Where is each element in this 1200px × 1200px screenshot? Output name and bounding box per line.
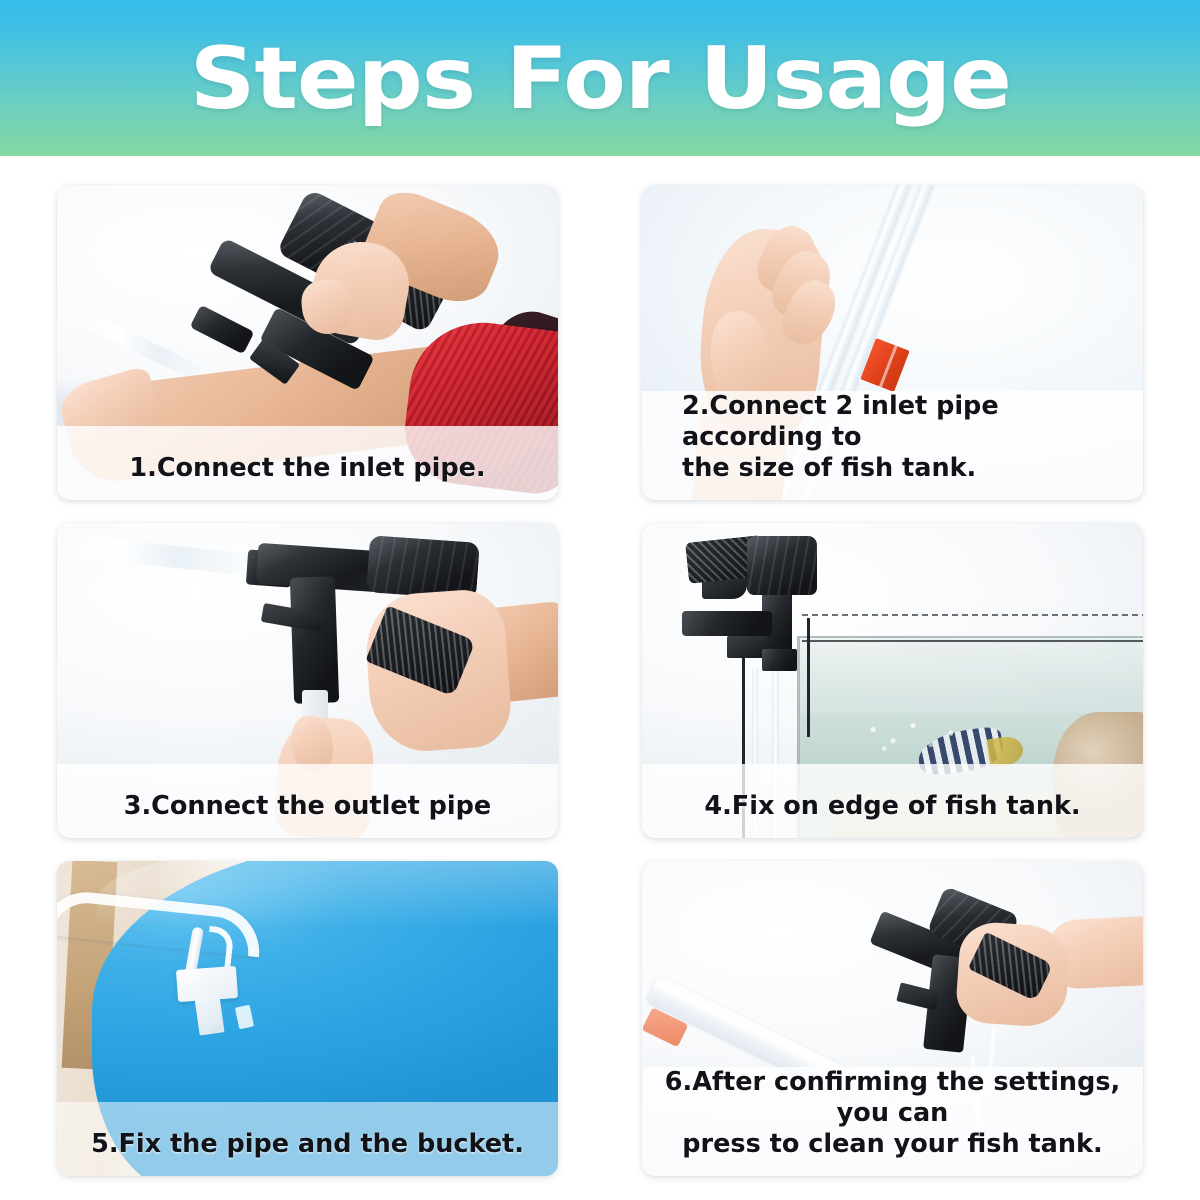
step-caption-bar-4: 4.Fix on edge of fish tank. — [642, 764, 1143, 838]
pump-collar — [762, 649, 797, 671]
step-caption-6: 6.After confirming the settings, you can… — [660, 1067, 1125, 1160]
step-card-3[interactable]: 3.Connect the outlet pipe — [57, 523, 558, 838]
step-caption-2: 2.Connect 2 inlet pipe according to the … — [660, 391, 1125, 484]
step-card-1[interactable]: 1.Connect the inlet pipe. — [57, 185, 558, 500]
pump-head — [747, 536, 817, 596]
pump-outlet-neck — [290, 576, 339, 703]
step-caption-1: 1.Connect the inlet pipe. — [129, 453, 485, 484]
step-caption-bar-3: 3.Connect the outlet pipe — [57, 764, 558, 838]
step-caption-bar-5: 5.Fix the pipe and the bucket. — [57, 1102, 558, 1176]
page-header: Steps For Usage — [0, 0, 1200, 156]
bubbles — [862, 718, 972, 756]
step-caption-5: 5.Fix the pipe and the bucket. — [91, 1129, 524, 1160]
page-title: Steps For Usage — [189, 36, 1010, 122]
pipe-clip-arm — [195, 995, 225, 1036]
pump-clamp — [727, 636, 767, 658]
step-card-4[interactable]: 4.Fix on edge of fish tank. — [642, 523, 1143, 838]
step-card-2[interactable]: 2.Connect 2 inlet pipe according to the … — [642, 185, 1143, 500]
tank-rim-top — [802, 614, 1143, 616]
steps-grid: 1.Connect the inlet pipe. 2.Connect 2 in… — [57, 185, 1143, 1175]
step-caption-bar-6: 6.After confirming the settings, you can… — [642, 1067, 1143, 1176]
pump-side-barrel — [682, 611, 772, 636]
step-caption-4: 4.Fix on edge of fish tank. — [704, 791, 1080, 822]
tank-rim-bottom — [802, 640, 1143, 642]
step-caption-bar-2: 2.Connect 2 inlet pipe according to the … — [642, 391, 1143, 500]
step-caption-bar-1: 1.Connect the inlet pipe. — [57, 426, 558, 500]
step-card-6[interactable]: 6.After confirming the settings, you can… — [642, 861, 1143, 1176]
mounting-hook — [807, 618, 810, 738]
step-caption-3: 3.Connect the outlet pipe — [124, 791, 491, 822]
step-card-5[interactable]: 5.Fix the pipe and the bucket. — [57, 861, 558, 1176]
